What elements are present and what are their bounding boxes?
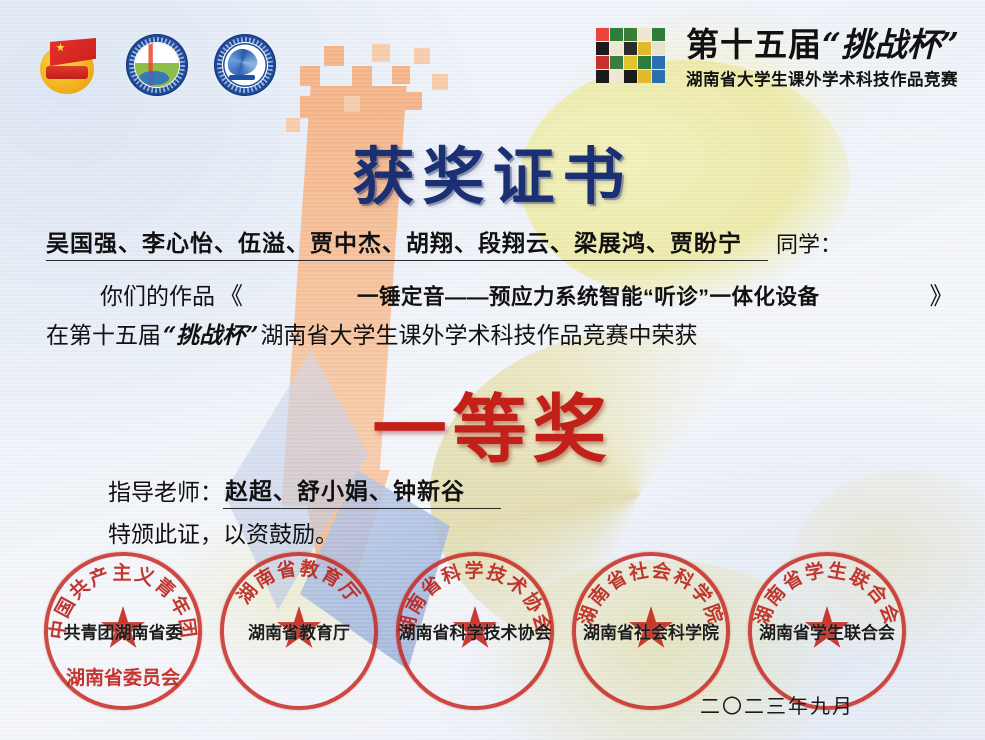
- header-subtitle: 湖南省大学生课外学术科技作品竞赛: [686, 66, 958, 90]
- pixel-square: [404, 92, 422, 110]
- header-title-cup: “挑战杯”: [822, 25, 959, 64]
- work-lead-text: 你们的作品: [100, 283, 215, 311]
- recipients-suffix: 同学：: [776, 232, 842, 260]
- header-logo: 第十五届“挑战杯” 湖南省大学生课外学术科技作品竞赛: [596, 28, 959, 90]
- seal-overlay-text: 共青团湖南省委: [64, 619, 183, 644]
- work-title: 一锤定音——预应力系统智能“听诊”一体化设备: [343, 285, 834, 311]
- recipients-row: 吴国强、李心怡、伍溢、贾中杰、胡翔、段翔云、梁展鸿、贾盼宁 同学：: [46, 230, 842, 261]
- header-title-prefix: 第十五届: [686, 25, 822, 64]
- advisor-row: 指导老师： 赵超、舒小娟、钟新谷: [108, 478, 501, 509]
- certificate-title: 获奖证书: [0, 126, 985, 216]
- bracket-close: 》: [930, 283, 954, 312]
- emblem-group: [38, 34, 276, 96]
- award-level: 一等奖: [0, 370, 985, 477]
- seal-overlay-text: 湖南省学生联合会: [759, 619, 895, 644]
- pixel-square: [300, 96, 322, 118]
- seal-overlay-text: 湖南省教育厅: [248, 619, 350, 644]
- seal-hunan-science-technology-association: 湖南省科学技术协会 湖南省科学技术协会: [396, 552, 554, 710]
- pixel-square: [414, 48, 430, 64]
- pixel-square: [392, 66, 410, 84]
- pixel-square: [432, 74, 448, 90]
- communist-youth-league-emblem-icon: [38, 34, 100, 96]
- pixel-square: [372, 44, 390, 62]
- seal-overlay-text: 湖南省社会科学院: [583, 619, 719, 644]
- advisor-label: 指导老师：: [108, 479, 223, 509]
- certificate-page: 第十五届“挑战杯” 湖南省大学生课外学术科技作品竞赛 获奖证书 吴国强、李心怡、…: [0, 0, 985, 740]
- seal-hunan-student-federation: 湖南省学生联合会 湖南省学生联合会: [748, 552, 906, 710]
- seal-hunan-academy-social-sciences: 湖南省社会科学院 湖南省社会科学院: [572, 552, 730, 710]
- work-row: 你们的作品 《 一锤定音——预应力系统智能“听诊”一体化设备 》: [100, 283, 954, 312]
- contest-prefix: 在第十五届: [46, 322, 161, 350]
- challenge-cup-mosaic-15-logo-icon: [596, 28, 674, 90]
- seal-overlay-text: 湖南省科学技术协会: [399, 619, 552, 644]
- pixel-square: [344, 96, 360, 112]
- contest-cup: “挑战杯”: [163, 322, 258, 350]
- pixel-square: [300, 66, 320, 86]
- contest-suffix: 湖南省大学生课外学术科技作品竞赛中荣获: [260, 322, 697, 350]
- pixel-square: [352, 66, 372, 86]
- grant-text: 特颁此证，以资鼓励。: [108, 521, 338, 549]
- pixel-square: [324, 46, 344, 66]
- recipient-names: 吴国强、李心怡、伍溢、贾中杰、胡翔、段翔云、梁展鸿、贾盼宁: [46, 230, 768, 261]
- bracket-open: 《: [219, 283, 243, 312]
- contest-row: 在第十五届 “挑战杯” 湖南省大学生课外学术科技作品竞赛中荣获: [46, 322, 697, 350]
- seal-bottom-text: 湖南省委员会: [66, 663, 180, 690]
- advisor-names: 赵超、舒小娟、钟新谷: [223, 478, 501, 509]
- pixel-square: [376, 100, 390, 114]
- svg-text:湖南省教育厅: 湖南省教育厅: [233, 556, 365, 608]
- seal-hunan-education-department: 湖南省教育厅 湖南省教育厅: [220, 552, 378, 710]
- issue-date: 二〇二三年九月: [700, 690, 854, 719]
- header-title: 第十五届“挑战杯”: [686, 28, 959, 63]
- seal-communist-youth-league-hunan: 中国共产主义青年团 湖南省委员会 共青团湖南省委: [44, 552, 202, 710]
- university-emblem-icon: [214, 34, 276, 96]
- challenge-cup-15th-emblem-icon: [126, 34, 188, 96]
- seal-arc-top-text: 湖南省教育厅: [233, 556, 365, 608]
